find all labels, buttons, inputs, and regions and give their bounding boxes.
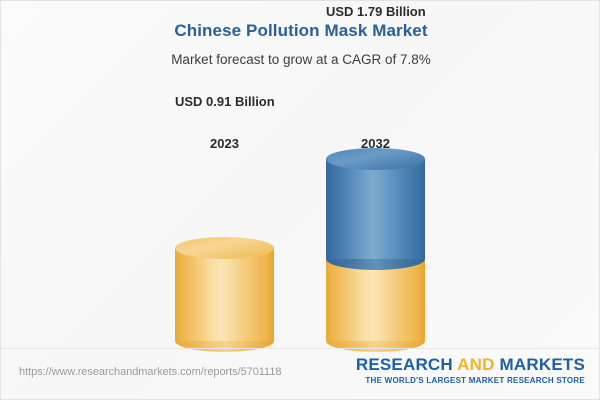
brand-name: RESEARCH AND MARKETS bbox=[356, 355, 585, 375]
axis-label-2032: 2032 bbox=[326, 136, 425, 151]
cylinder-2023 bbox=[175, 248, 274, 341]
bar-segment-base-2032 bbox=[326, 259, 425, 341]
bar-segment-growth-2032 bbox=[326, 159, 425, 259]
cylinder-top-ellipse bbox=[175, 237, 274, 259]
cylinder-body bbox=[326, 259, 425, 341]
bar-value-label-2032: USD 1.79 Billion bbox=[326, 4, 425, 19]
bar-group-2032[interactable]: USD 1.79 Billion 2032 bbox=[326, 116, 425, 341]
bar-value-label-2023: USD 0.91 Billion bbox=[175, 94, 274, 109]
bar-segment-base-2023 bbox=[175, 248, 274, 341]
cylinder-body bbox=[326, 159, 425, 259]
axis-label-2023: 2023 bbox=[175, 136, 274, 151]
bar-group-2023[interactable]: USD 0.91 Billion 2023 bbox=[175, 116, 274, 341]
brand-name-part2: MARKETS bbox=[495, 355, 585, 374]
source-url-link[interactable]: https://www.researchandmarkets.com/repor… bbox=[19, 366, 281, 378]
footer: https://www.researchandmarkets.com/repor… bbox=[1, 349, 600, 400]
plot-area: USD 0.91 Billion 2023 USD 1.79 Billion bbox=[1, 76, 600, 341]
brand-logo[interactable]: RESEARCH AND MARKETS THE WORLD'S LARGEST… bbox=[356, 355, 585, 385]
cylinder-2032 bbox=[326, 159, 425, 341]
page-title: Chinese Pollution Mask Market bbox=[1, 21, 600, 41]
chart-subtitle: Market forecast to grow at a CAGR of 7.8… bbox=[1, 52, 600, 67]
brand-name-accent: AND bbox=[457, 355, 494, 374]
brand-name-part1: RESEARCH bbox=[356, 355, 457, 374]
chart-card: Chinese Pollution Mask Market Market for… bbox=[0, 0, 600, 400]
cylinder-top-ellipse bbox=[326, 148, 425, 170]
brand-tagline: THE WORLD'S LARGEST MARKET RESEARCH STOR… bbox=[356, 376, 585, 385]
cylinder-body bbox=[175, 248, 274, 341]
